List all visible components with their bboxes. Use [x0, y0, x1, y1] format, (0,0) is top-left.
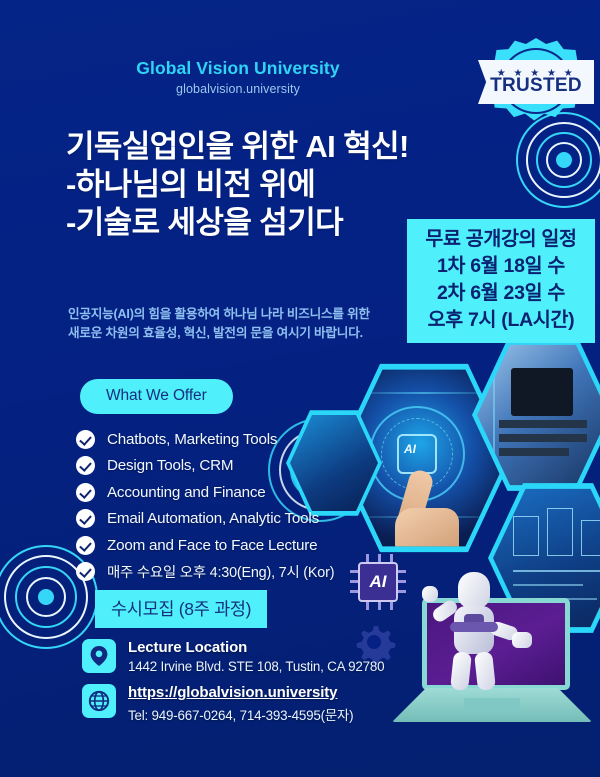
schedule-box: 무료 공개강의 일정 1차 6월 18일 수 2차 6월 23일 수 오후 7시…: [407, 219, 595, 343]
what-we-offer-pill: What We Offer: [80, 379, 233, 414]
website-contact-block: https://globalvision.university Tel: 949…: [82, 684, 353, 724]
lecture-location-block: Lecture Location 1442 Irvine Blvd. STE 1…: [82, 639, 384, 674]
check-circle-icon: [76, 509, 95, 528]
schedule-title: 무료 공개강의 일정: [415, 226, 587, 253]
globe-icon: [82, 684, 116, 718]
check-circle-icon: [76, 456, 95, 475]
website-text: https://globalvision.university Tel: 949…: [128, 684, 353, 724]
poster-canvas: AI: [0, 0, 600, 777]
list-item: Email Automation, Analytic Tools: [76, 506, 376, 533]
trusted-badge: ★ ★ ★ ★ ★ TRUSTED: [478, 36, 594, 124]
chip-pin: [366, 602, 369, 610]
brand-url: globalvision.university: [88, 82, 388, 96]
headline-line-1: 기독실업인을 위한 AI 혁신!: [66, 128, 486, 166]
list-item-label: Email Automation, Analytic Tools: [107, 510, 319, 527]
check-circle-icon: [76, 562, 95, 581]
list-item-label: Zoom and Face to Face Lecture: [107, 537, 317, 554]
chip-pin: [390, 554, 393, 562]
chip-pin: [378, 554, 381, 562]
headline-line-2: -하나님의 비전 위에: [66, 166, 486, 204]
check-circle-icon: [76, 430, 95, 449]
check-circle-icon: [76, 483, 95, 502]
list-item: Accounting and Finance: [76, 479, 376, 506]
location-text: Lecture Location 1442 Irvine Blvd. STE 1…: [128, 639, 384, 674]
map-pin-icon: [82, 639, 116, 673]
schedule-session-2: 2차 6월 23일 수: [415, 280, 587, 307]
chip-pin: [398, 570, 406, 573]
intro-line-2: 새로운 차원의 효율성, 혁신, 발전의 문을 여시기 바랍니다.: [68, 324, 398, 343]
list-item: 매주 수요일 오후 4:30(Eng), 7시 (Kor): [76, 559, 376, 586]
schedule-time: 오후 7시 (LA시간): [415, 307, 587, 334]
chip-pin: [378, 602, 381, 610]
chip-pin: [398, 580, 406, 583]
chip-pin: [350, 590, 358, 593]
location-title: Lecture Location: [128, 639, 247, 656]
brand-name: Global Vision University: [88, 58, 388, 79]
schedule-session-1: 1차 6월 18일 수: [415, 253, 587, 280]
intro-line-1: 인공지능(AI)의 힘을 활용하여 하나님 나라 비즈니스를 위한: [68, 305, 398, 324]
brand-header: Global Vision University globalvision.un…: [88, 58, 388, 96]
website-link[interactable]: https://globalvision.university: [128, 684, 337, 701]
list-item-label: 매주 수요일 오후 4:30(Eng), 7시 (Kor): [107, 561, 334, 582]
list-item: Chatbots, Marketing Tools: [76, 426, 376, 453]
list-item-label: Design Tools, CRM: [107, 457, 233, 474]
badge-label: TRUSTED: [478, 75, 594, 97]
admission-badge: 수시모집 (8주 과정): [95, 590, 267, 628]
list-item-label: Accounting and Finance: [107, 484, 266, 501]
location-address: 1442 Irvine Blvd. STE 108, Tustin, CA 92…: [128, 659, 384, 674]
list-item: Zoom and Face to Face Lecture: [76, 532, 376, 559]
robot-graphic: [424, 570, 534, 700]
ring-decor-top-right: [516, 112, 600, 208]
chip-pin: [398, 590, 406, 593]
list-item: Design Tools, CRM: [76, 453, 376, 480]
list-item-label: Chatbots, Marketing Tools: [107, 431, 277, 448]
phone-numbers: Tel: 949-667-0264, 714-393-4595(문자): [128, 704, 353, 724]
check-circle-icon: [76, 536, 95, 555]
offer-list: Chatbots, Marketing Tools Design Tools, …: [76, 426, 376, 585]
intro-paragraph: 인공지능(AI)의 힘을 활용하여 하나님 나라 비즈니스를 위한 새로운 차원…: [68, 305, 398, 343]
